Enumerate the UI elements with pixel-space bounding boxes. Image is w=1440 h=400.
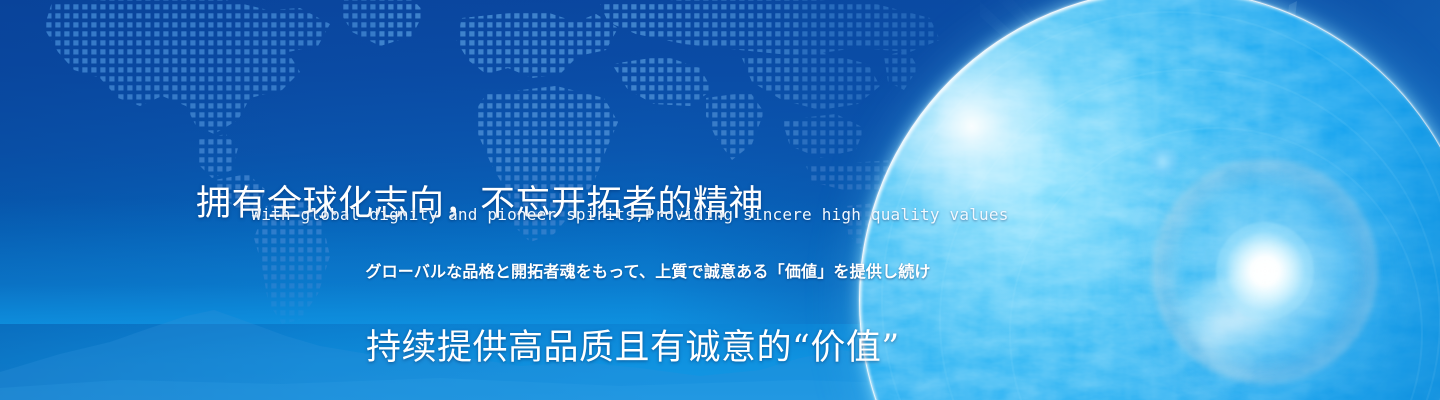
banner-subline-english: With global dignity and pioneer spirits,… <box>0 205 1260 224</box>
banner-headline: 拥有全球化志向，不忘开拓者的精神 持续提供高品质且有诚意的“价值” <box>0 84 920 400</box>
hero-banner: 拥有全球化志向，不忘开拓者的精神 持续提供高品质且有诚意的“价值” With g… <box>0 0 1440 400</box>
lens-flare-orb-icon <box>1148 147 1178 177</box>
headline-line-2: 持续提供高品质且有诚意的“价值” <box>0 324 920 372</box>
banner-subline-japanese: グローバルな品格と開拓者魂をもって、上質で誠意ある「価値」を提供し続け <box>0 258 1296 282</box>
banner-copy-block: 拥有全球化志向，不忘开拓者的精神 持续提供高品质且有诚意的“价值” With g… <box>0 0 1080 400</box>
